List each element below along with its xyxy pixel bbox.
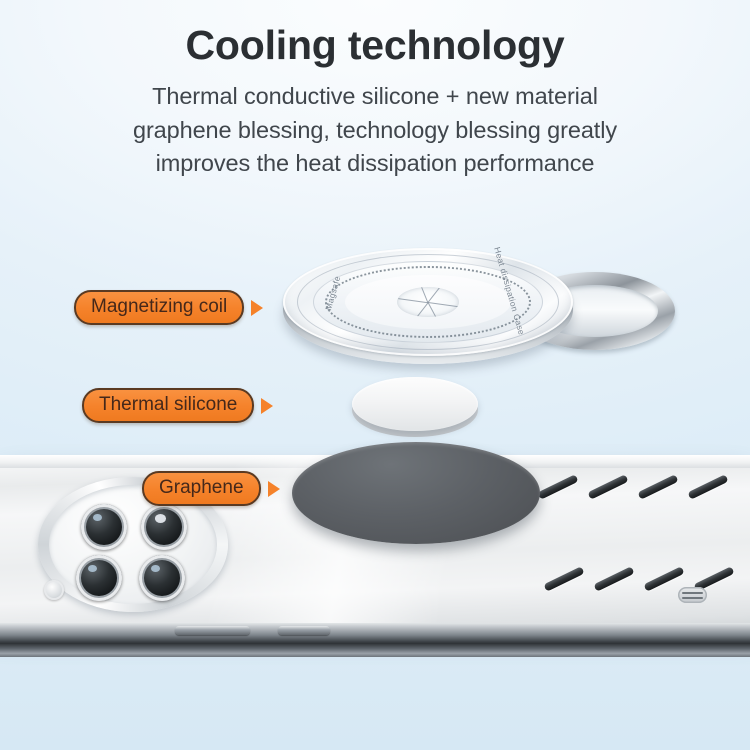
callout-labels: Magnetizing coil Thermal silicone Graphe… — [0, 0, 750, 750]
callout-label-text: Graphene — [142, 471, 261, 506]
callout-label-text: Magnetizing coil — [74, 290, 244, 325]
arrow-right-icon — [251, 300, 263, 316]
callout-magnetizing-coil[interactable]: Magnetizing coil — [74, 290, 263, 325]
callout-label-text: Thermal silicone — [82, 388, 254, 423]
callout-graphene[interactable]: Graphene — [142, 471, 280, 506]
arrow-right-icon — [268, 481, 280, 497]
callout-thermal-silicone[interactable]: Thermal silicone — [82, 388, 273, 423]
arrow-right-icon — [261, 398, 273, 414]
infographic-canvas: Cooling technology Thermal conductive si… — [0, 0, 750, 750]
